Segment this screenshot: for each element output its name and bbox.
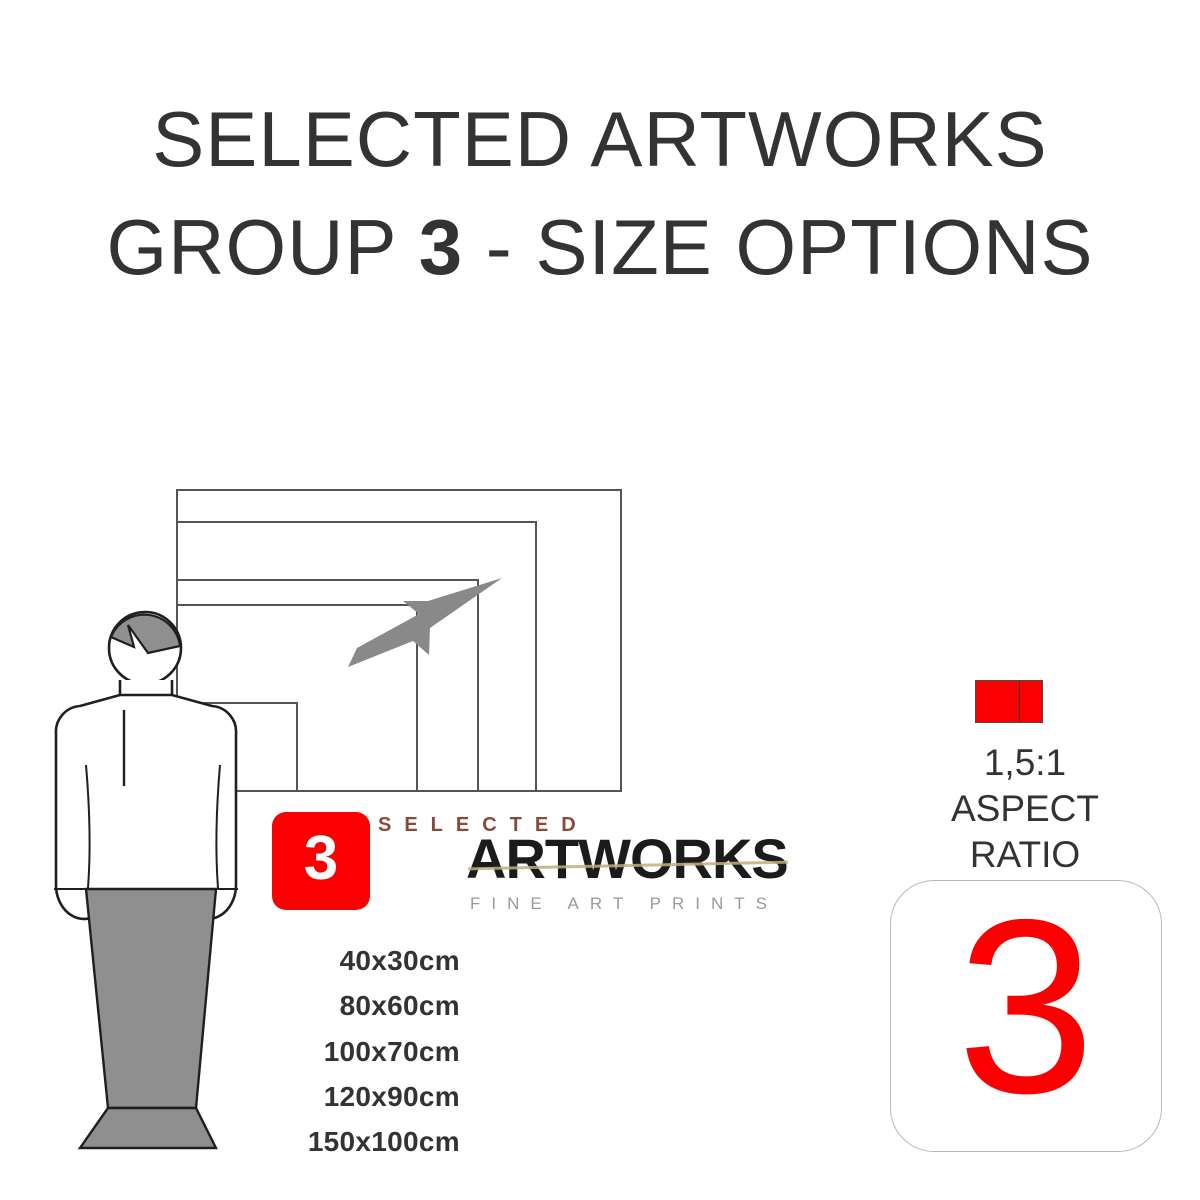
- aspect-ratio-value: 1,5:1: [880, 740, 1170, 786]
- size-option-item[interactable]: 120x90cm: [120, 1074, 460, 1119]
- logo-group-badge: 3: [272, 812, 370, 910]
- size-option-item[interactable]: 100x70cm: [120, 1029, 460, 1074]
- size-option-item[interactable]: 80x60cm: [120, 983, 460, 1028]
- size-options-list: 40x30cm 80x60cm 100x70cm 120x90cm 150x10…: [120, 938, 460, 1165]
- logo-tagline-text: FINE ART PRINTS: [470, 894, 778, 914]
- group-number-card-value: 3: [957, 882, 1095, 1130]
- aspect-ratio-swatch-divider: [1019, 681, 1020, 722]
- size-option-item[interactable]: 150x100cm: [120, 1119, 460, 1164]
- aspect-ratio-labels: 1,5:1 ASPECT RATIO: [880, 740, 1170, 878]
- logo-group-badge-number: 3: [304, 828, 338, 890]
- brand-logo: 3 SELECTED ARTWORKS FINE ART PRINTS: [272, 812, 832, 922]
- group-number-card[interactable]: 3: [890, 880, 1162, 1152]
- aspect-ratio-swatch-icon: [975, 680, 1043, 723]
- size-option-item[interactable]: 40x30cm: [120, 938, 460, 983]
- poster-canvas: SELECTED ARTWORKS GROUP 3 - SIZE OPTIONS: [0, 0, 1200, 1200]
- person-neck: [120, 680, 172, 696]
- aspect-ratio-label-line1: ASPECT: [880, 786, 1170, 832]
- person-torso: [56, 695, 236, 919]
- logo-wordmark: SELECTED ARTWORKS FINE ART PRINTS: [378, 812, 828, 920]
- logo-artworks-text: ARTWORKS: [466, 826, 788, 891]
